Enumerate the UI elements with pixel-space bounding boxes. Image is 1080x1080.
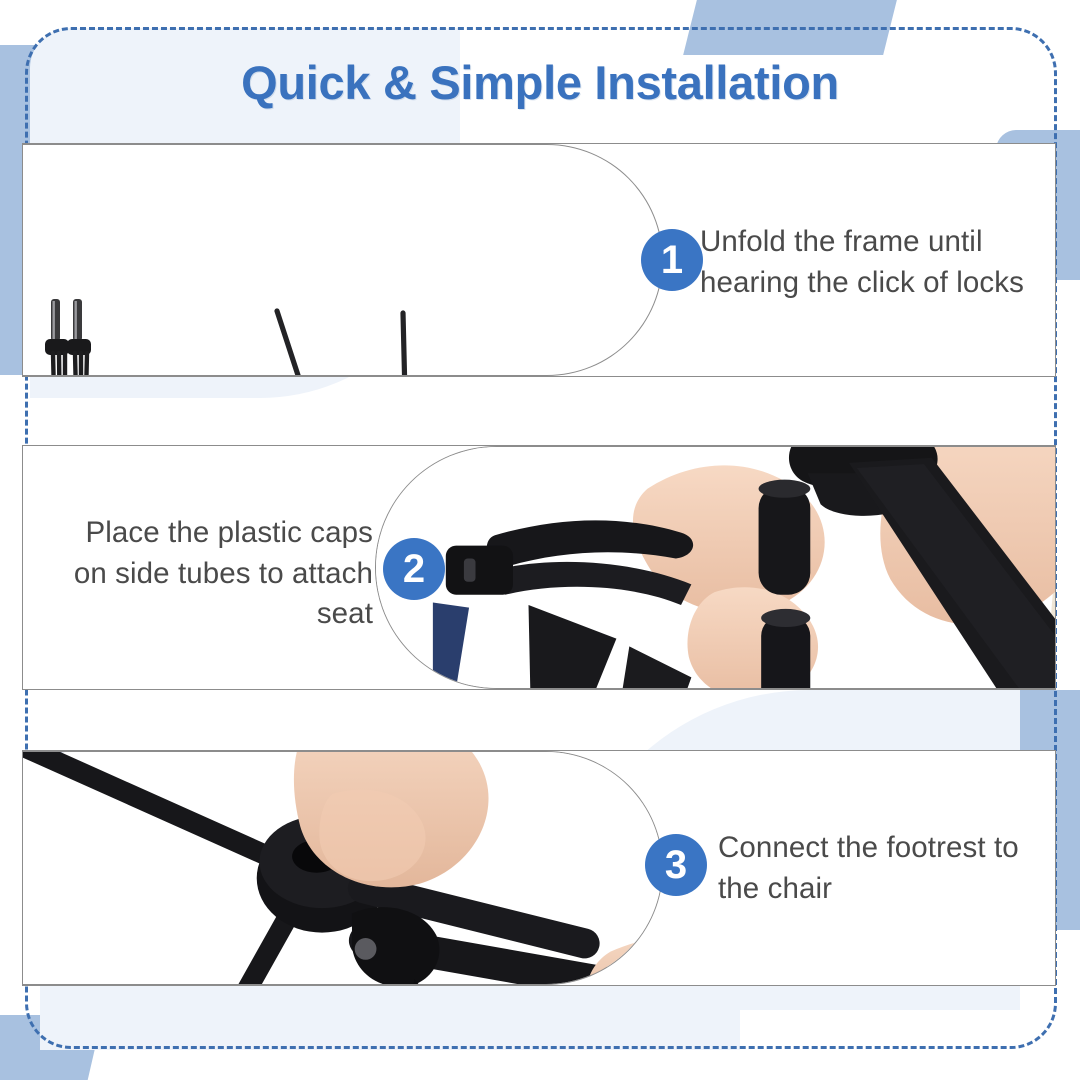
step-3-badge: 3 <box>645 834 707 896</box>
step-2-photo <box>376 447 1056 689</box>
step-2-media-mask <box>375 446 1056 689</box>
step-1-media-mask <box>22 144 663 376</box>
step-3-media-mask <box>22 751 663 985</box>
page-title: Quick & Simple Installation <box>0 55 1080 110</box>
folded-frame-illustration <box>23 295 133 376</box>
step-1-badge: 1 <box>641 229 703 291</box>
step-2-text: Place the plastic caps on side tubes to … <box>48 513 373 635</box>
step-3-text: Connect the footrest to the chair <box>718 828 1048 909</box>
step-1-text: Unfold the frame until hearing the click… <box>700 222 1050 303</box>
step-2-badge: 2 <box>383 538 445 600</box>
step-3-photo <box>22 752 663 985</box>
infographic-canvas: Quick & Simple Installation <box>0 0 1080 1080</box>
unfolded-frame-illustration <box>255 303 470 376</box>
